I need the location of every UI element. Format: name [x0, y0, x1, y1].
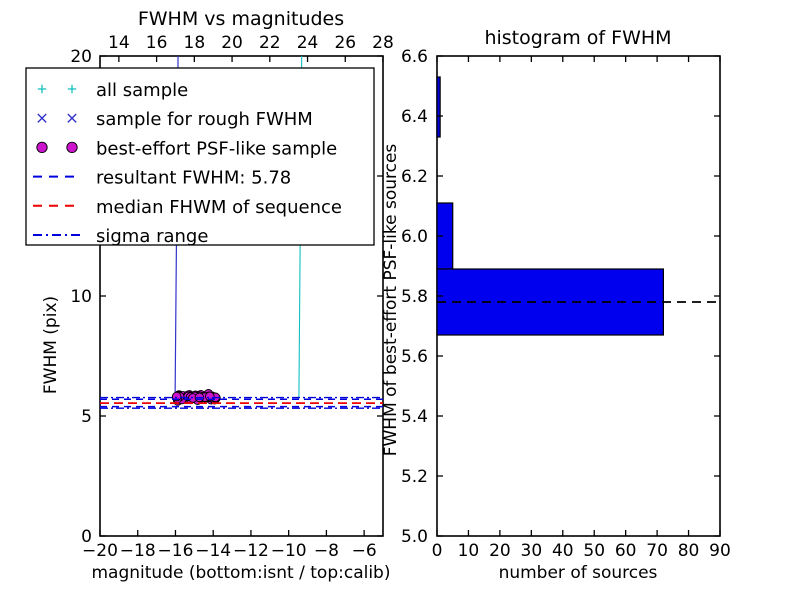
right-ytick-label: 5.8	[401, 287, 428, 307]
left-top-xtick-label: 14	[108, 33, 130, 53]
right-ytick-label: 5.2	[401, 467, 428, 487]
legend-dot-icon	[67, 142, 77, 152]
legend-item-label: resultant FWHM: 5.78	[96, 168, 291, 189]
right-ytick-label: 6.0	[401, 227, 428, 247]
histogram-bar	[437, 77, 440, 137]
right-panel-title: histogram of FWHM	[484, 27, 671, 49]
right-ytick-label: 5.0	[401, 527, 428, 547]
figure-canvas: FWHM vs magnitudes −	[0, 0, 800, 600]
left-xtick-label: −8	[314, 541, 339, 561]
left-xtick-label: −14	[195, 541, 231, 561]
right-ytick-label: 6.4	[401, 107, 428, 127]
legend-item-label: best-effort PSF-like sample	[96, 138, 337, 159]
left-ytick-label: 5	[81, 407, 92, 427]
legend-item-label: sigma range	[96, 226, 208, 247]
left-panel-title: FWHM vs magnitudes	[138, 8, 344, 30]
left-top-xtick-label: 26	[334, 33, 356, 53]
right-xtick-label: 90	[709, 541, 731, 561]
right-xtick-label: 20	[489, 541, 511, 561]
left-top-xtick-label: 28	[372, 33, 394, 53]
left-xaxis-label: magnitude (bottom:isnt / top:calib)	[92, 563, 391, 583]
right-ytick-label: 5.6	[401, 347, 428, 367]
right-xtick-label: 30	[521, 541, 543, 561]
right-xtick-label: 80	[678, 541, 700, 561]
right-xtick-label: 0	[432, 541, 443, 561]
legend-dot-icon	[37, 142, 47, 152]
left-xtick-label: −6	[352, 541, 377, 561]
right-xtick-label: 40	[552, 541, 574, 561]
left-xtick-label: −16	[158, 541, 194, 561]
left-xtick-label: −12	[233, 541, 269, 561]
left-yaxis-label: FWHM (pix)	[41, 296, 61, 394]
right-xtick-label: 10	[458, 541, 480, 561]
matplotlib-figure: FWHM vs magnitudes −	[0, 0, 800, 600]
right-xaxis-label: number of sources	[499, 563, 658, 583]
right-xtick-label: 50	[583, 541, 605, 561]
right-xtick-label: 60	[615, 541, 637, 561]
right-xtick-label: 70	[646, 541, 668, 561]
left-top-xtick-label: 20	[221, 33, 243, 53]
right-ytick-label: 6.2	[401, 167, 428, 187]
legend: all samplesample for rough FWHMbest-effo…	[26, 68, 374, 247]
left-top-xtick-label: 16	[146, 33, 168, 53]
left-top-xtick-label: 18	[184, 33, 206, 53]
left-ytick-label: 20	[70, 47, 92, 67]
left-ytick-label: 0	[81, 527, 92, 547]
left-top-xtick-label: 22	[259, 33, 281, 53]
right-ytick-label: 5.4	[401, 407, 428, 427]
right-yaxis-label: FWHM of best-effort PSF-like sources	[381, 144, 401, 457]
right-ytick-label: 6.6	[401, 47, 428, 67]
legend-item-label: median FHWM of sequence	[96, 197, 342, 218]
left-xtick-label: −10	[271, 541, 307, 561]
left-xtick-label: −18	[120, 541, 156, 561]
legend-item-label: all sample	[96, 80, 188, 101]
legend-item-label: sample for rough FWHM	[96, 109, 313, 130]
left-top-xtick-label: 24	[297, 33, 319, 53]
left-ytick-label: 10	[70, 287, 92, 307]
